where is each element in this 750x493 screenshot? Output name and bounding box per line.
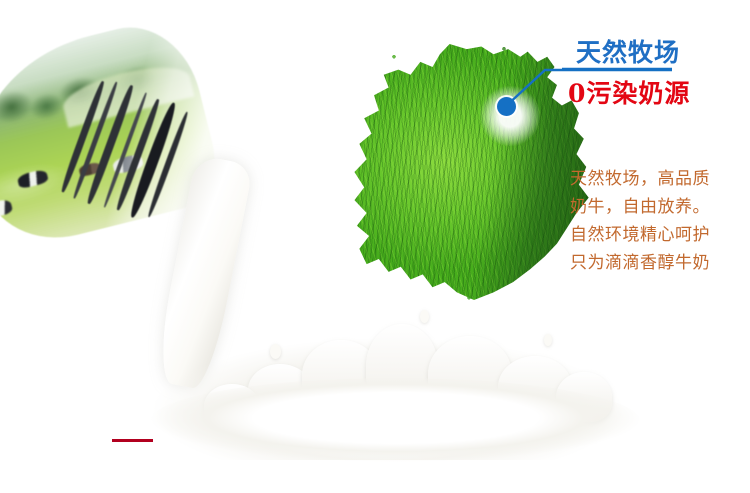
cow — [0, 198, 14, 220]
headline-text: 天然牧场 — [576, 33, 680, 69]
ireland-grass-map — [352, 44, 596, 300]
body-line: 自然环境精心呵护 — [570, 221, 750, 249]
tilted-glass-milk-bottle — [0, 0, 296, 288]
subheadline-text: 0污染奶源 — [568, 74, 690, 110]
promo-banner: 天然牧场 0污染奶源 天然牧场，高品质 奶牛，自由放养。 自然环境精心呵护 只为… — [0, 0, 750, 493]
cow — [17, 169, 50, 191]
body-line: 天然牧场，高品质 — [570, 165, 750, 193]
map-grass-texture — [352, 44, 596, 300]
body-line: 只为滴滴香醇牛奶 — [570, 249, 750, 277]
milk-pool — [150, 378, 640, 464]
bottle-group — [0, 0, 310, 252]
body-line: 奶牛，自由放养。 — [570, 193, 750, 221]
red-accent-rule — [112, 439, 153, 442]
marker-halo — [480, 86, 540, 146]
body-copy: 天然牧场，高品质 奶牛，自由放养。 自然环境精心呵护 只为滴滴香醇牛奶 — [570, 165, 750, 277]
location-dot-icon[interactable] — [497, 97, 516, 116]
map-grass-fill — [352, 44, 596, 300]
